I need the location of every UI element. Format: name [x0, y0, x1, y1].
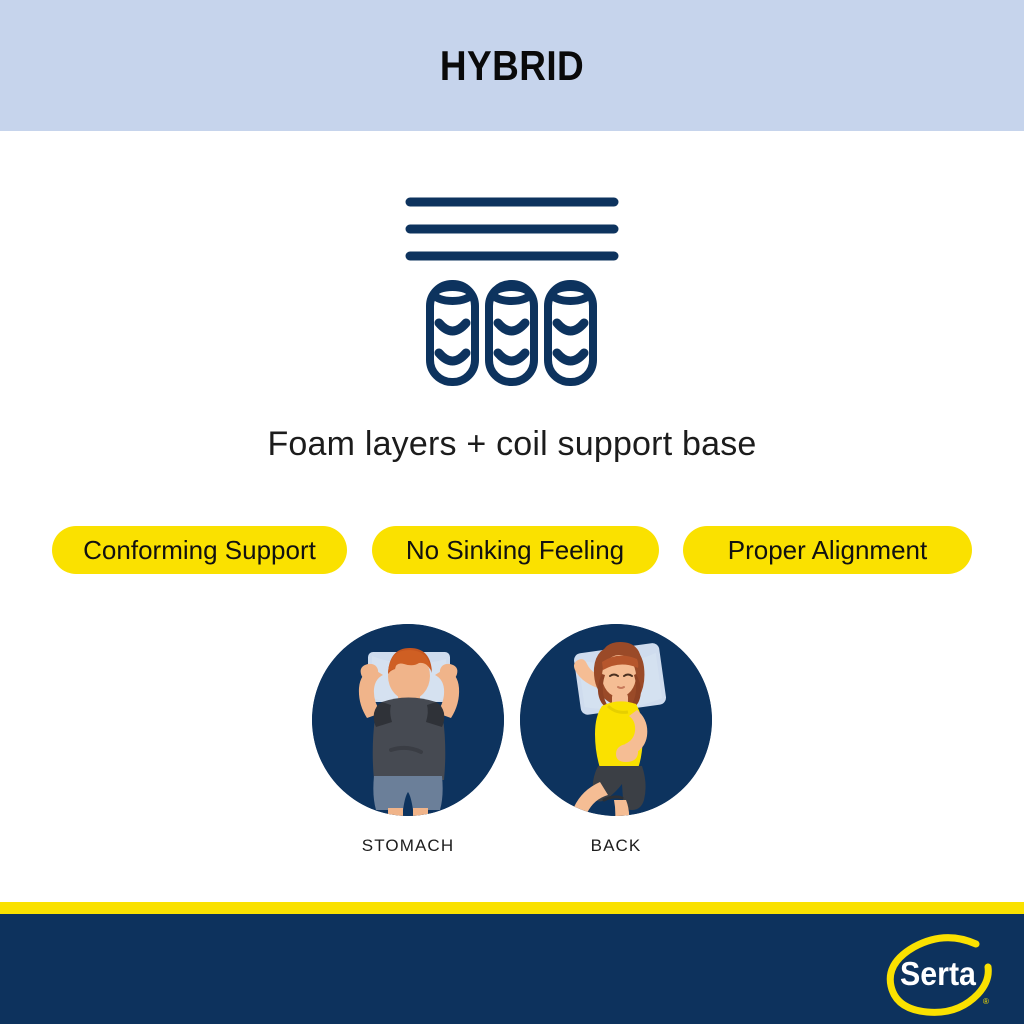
back-sleeper-illustration — [520, 624, 712, 816]
benefit-pill-no-sinking-feeling[interactable]: No Sinking Feeling — [372, 526, 659, 574]
stomach-sleeper-illustration — [312, 624, 504, 816]
sleep-position-label-stomach: STOMACH — [312, 836, 504, 856]
page-title: HYBRID — [440, 45, 584, 87]
benefit-pill-row: Conforming Support No Sinking Feeling Pr… — [52, 526, 972, 574]
registered-trademark-mark: ® — [983, 997, 989, 1006]
subtitle-text: Foam layers + coil support base — [0, 425, 1024, 464]
serta-wordmark: Serta — [900, 955, 976, 992]
serta-logo[interactable]: Serta ® — [886, 928, 996, 1016]
sleep-position-row: STOMACH — [0, 624, 1024, 874]
hybrid-mattress-foam-and-coils-icon — [397, 190, 627, 390]
header-banner: HYBRID — [0, 0, 1024, 131]
footer-accent-stripe — [0, 902, 1024, 914]
footer-banner: Serta ® — [0, 914, 1024, 1024]
sleep-position-back: BACK — [520, 624, 712, 856]
benefit-pill-proper-alignment[interactable]: Proper Alignment — [683, 526, 972, 574]
sleep-position-label-back: BACK — [520, 836, 712, 856]
infographic-page: HYBRID — [0, 0, 1024, 1024]
sleep-position-stomach: STOMACH — [312, 624, 504, 856]
benefit-pill-conforming-support[interactable]: Conforming Support — [52, 526, 347, 574]
